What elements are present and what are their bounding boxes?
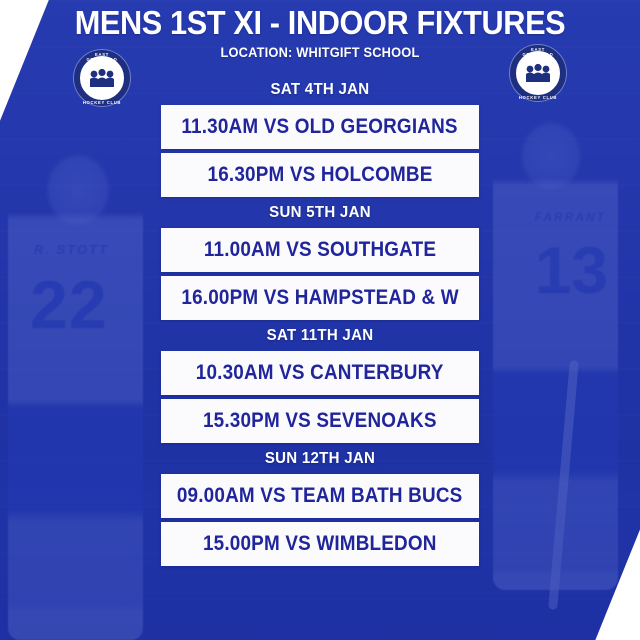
club-crest-left: EAST GRINSTEAD HOCKEY CLUB: [74, 50, 130, 106]
fixture-row[interactable]: 16.00PM VS HAMPSTEAD & W: [161, 276, 479, 320]
day-header: SUN 12TH JAN: [19, 447, 621, 470]
fixture-text: 15.30PM VS SEVENOAKS: [203, 409, 437, 433]
fixture-text: 16.30PM VS HOLCOMBE: [207, 163, 432, 187]
crest-bottom-text: HOCKEY CLUB: [80, 100, 124, 105]
day-block: SUN 5TH JAN11.00AM VS SOUTHGATE16.00PM V…: [0, 201, 640, 320]
day-header: SUN 5TH JAN: [19, 201, 621, 224]
fixture-row[interactable]: 09.00AM VS TEAM BATH BUCS: [161, 474, 479, 518]
fixture-row[interactable]: 15.00PM VS WIMBLEDON: [161, 522, 479, 566]
fixture-row[interactable]: 11.00AM VS SOUTHGATE: [161, 228, 479, 272]
crest-emblem-icon: [89, 67, 115, 89]
fixtures-list: SAT 4TH JAN11.30AM VS OLD GEORGIANS16.30…: [0, 78, 640, 570]
crest-top-text: EAST GRINSTEAD: [80, 52, 124, 62]
fixture-text: 11.00AM VS SOUTHGATE: [204, 238, 436, 262]
fixture-row[interactable]: 10.30AM VS CANTERBURY: [161, 351, 479, 395]
fixture-text: 15.00PM VS WIMBLEDON: [203, 532, 437, 556]
fixtures-poster: R. STOTT 22 FARRANT 13 EAST GRINSTEAD HO…: [0, 0, 640, 640]
club-crest-right: EAST GRINSTEAD HOCKEY CLUB: [510, 45, 566, 101]
day-block: SAT 11TH JAN10.30AM VS CANTERBURY15.30PM…: [0, 324, 640, 443]
day-block: SUN 12TH JAN09.00AM VS TEAM BATH BUCS15.…: [0, 447, 640, 566]
page-title: MENS 1ST XI - INDOOR FIXTURES: [22, 4, 617, 42]
fixture-row[interactable]: 11.30AM VS OLD GEORGIANS: [161, 105, 479, 149]
crest-top-text: EAST GRINSTEAD: [516, 47, 560, 57]
day-header: SAT 11TH JAN: [19, 324, 621, 347]
fixture-row[interactable]: 15.30PM VS SEVENOAKS: [161, 399, 479, 443]
fixture-text: 09.00AM VS TEAM BATH BUCS: [177, 484, 463, 508]
crest-bottom-text: HOCKEY CLUB: [516, 95, 560, 100]
crest-emblem-icon: [525, 62, 551, 84]
fixture-text: 16.00PM VS HAMPSTEAD & W: [181, 286, 458, 310]
fixture-row[interactable]: 16.30PM VS HOLCOMBE: [161, 153, 479, 197]
fixture-text: 10.30AM VS CANTERBURY: [196, 361, 444, 385]
fixture-text: 11.30AM VS OLD GEORGIANS: [182, 115, 458, 139]
